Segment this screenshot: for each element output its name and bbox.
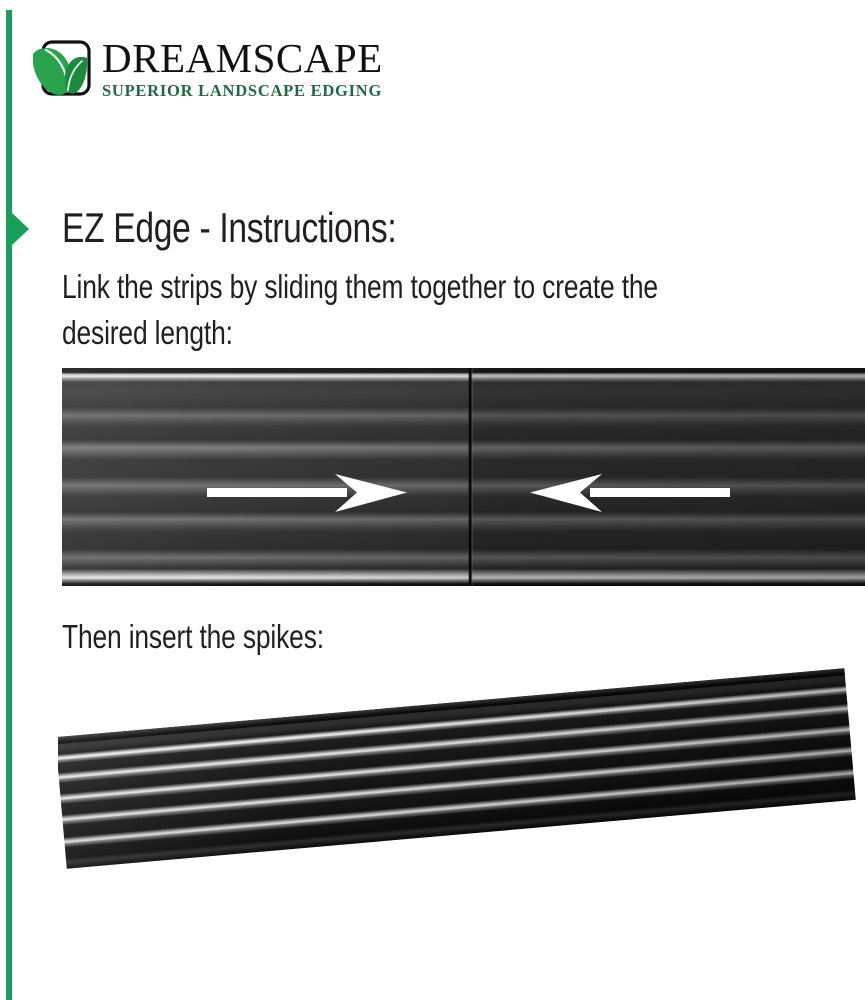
edging-sheen-overlay bbox=[58, 668, 856, 869]
brand-name: DREAMSCAPE bbox=[102, 36, 432, 80]
step-two-instruction: Then insert the spikes: bbox=[62, 617, 324, 657]
edging-strip-with-hole bbox=[58, 668, 856, 869]
step-one-line-1: Link the strips by sliding them together… bbox=[62, 264, 862, 310]
arrow-left-icon bbox=[530, 472, 730, 514]
triangle-right-icon bbox=[11, 212, 29, 246]
brand-wordmark: DREAMSCAPE SUPERIOR LANDSCAPE EDGING bbox=[102, 36, 432, 100]
instruction-sheet-page: DREAMSCAPE SUPERIOR LANDSCAPE EDGING EZ … bbox=[0, 0, 865, 1000]
step-one-line-2: desired length: bbox=[62, 310, 862, 356]
step-one-instruction: Link the strips by sliding them together… bbox=[62, 264, 862, 356]
spike-insertion-photo bbox=[58, 660, 865, 1000]
leaf-in-square-icon bbox=[30, 38, 92, 104]
left-green-rail bbox=[6, 10, 12, 1000]
arrow-right-icon bbox=[207, 472, 407, 514]
linking-strips-photo bbox=[62, 368, 865, 586]
page-title: EZ Edge - Instructions: bbox=[62, 203, 396, 253]
brand-tagline: SUPERIOR LANDSCAPE EDGING bbox=[102, 81, 432, 100]
strip-seam bbox=[468, 368, 473, 586]
edging-top-cap bbox=[58, 668, 845, 744]
brand-logo: DREAMSCAPE SUPERIOR LANDSCAPE EDGING bbox=[30, 36, 430, 116]
